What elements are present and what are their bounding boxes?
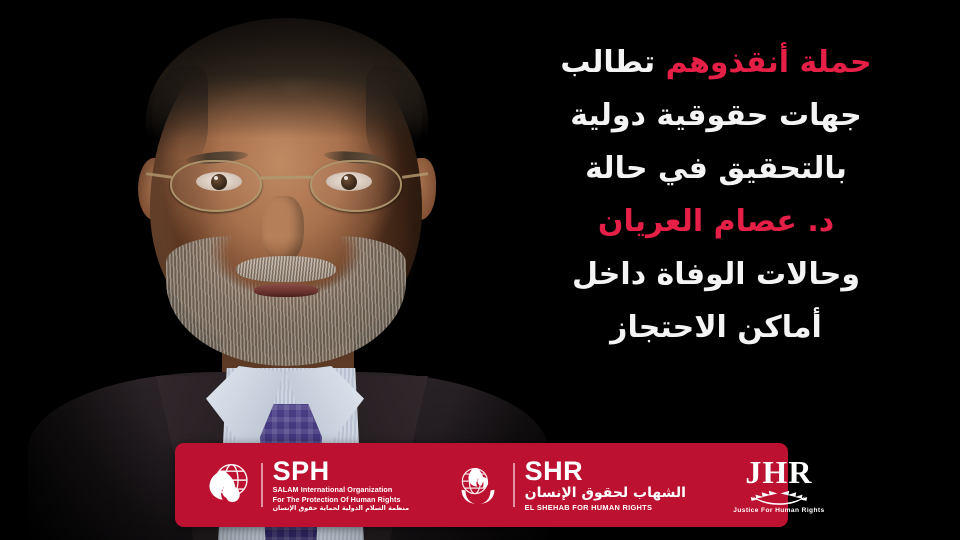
logo-sph-subline-1: SALAM International Organization	[273, 485, 409, 495]
lens-right	[310, 160, 402, 212]
headline-subject-name: د. عصام العريان	[490, 207, 942, 237]
headline-line-6: أماكن الاحتجاز	[490, 313, 942, 343]
dove-globe-hands-icon	[453, 460, 503, 510]
hair	[146, 18, 428, 138]
logo-shr-arabic: الشهاب لحقوق الإنسان	[525, 485, 686, 502]
headline-line-5: وحالات الوفاة داخل	[490, 260, 942, 290]
campaign-name: حملة أنقذوهم	[666, 45, 872, 80]
eyeglasses	[164, 160, 410, 216]
poster-canvas: حملة أنقذوهم تطالب جهات حقوقية دولية بال…	[0, 0, 960, 540]
logo-shr-acronym: SHR	[525, 457, 686, 485]
headline-line-2: جهات حقوقية دولية	[490, 101, 942, 131]
logo-jhr-english: Justice For Human Rights	[733, 507, 824, 514]
logo-divider-sph	[261, 463, 263, 507]
headline-line-3: بالتحقيق في حالة	[490, 154, 942, 184]
mouth	[254, 284, 318, 297]
moustache	[236, 256, 336, 282]
lens-left	[170, 160, 262, 212]
logo-banner: SPH SALAM International Organization For…	[175, 443, 788, 527]
logo-shr-text: SHR الشهاب لحقوق الإنسان EL SHEHAB FOR H…	[525, 457, 686, 513]
logo-divider-shr	[513, 463, 515, 507]
logo-jhr-text: JHR	[732, 456, 826, 514]
logo-sph-arabic: منظمة السلام الدولية لحماية حقوق الإنسان	[273, 504, 409, 513]
logo-sph[interactable]: SPH SALAM International Organization For…	[175, 443, 409, 527]
logo-shr[interactable]: SHR الشهاب لحقوق الإنسان EL SHEHAB FOR H…	[409, 443, 686, 527]
logo-sph-acronym: SPH	[273, 457, 409, 485]
logo-sph-subline-2: For The Protection Of Human Rights	[273, 495, 409, 505]
logo-shr-english: EL SHEHAB FOR HUMAN RIGHTS	[525, 502, 686, 513]
glasses-bridge	[260, 176, 312, 180]
logo-sph-text: SPH SALAM International Organization For…	[273, 457, 409, 513]
logo-jhr[interactable]: JHR	[686, 443, 826, 527]
headline-block: حملة أنقذوهم تطالب جهات حقوقية دولية بال…	[490, 48, 942, 343]
headline-line-1: حملة أنقذوهم تطالب	[490, 48, 942, 78]
logo-jhr-acronym: JHR	[745, 456, 812, 488]
dove-globe-icon	[199, 459, 251, 511]
headline-line-1-white: تطالب	[560, 45, 655, 80]
laurel-branches-icon	[732, 488, 826, 506]
